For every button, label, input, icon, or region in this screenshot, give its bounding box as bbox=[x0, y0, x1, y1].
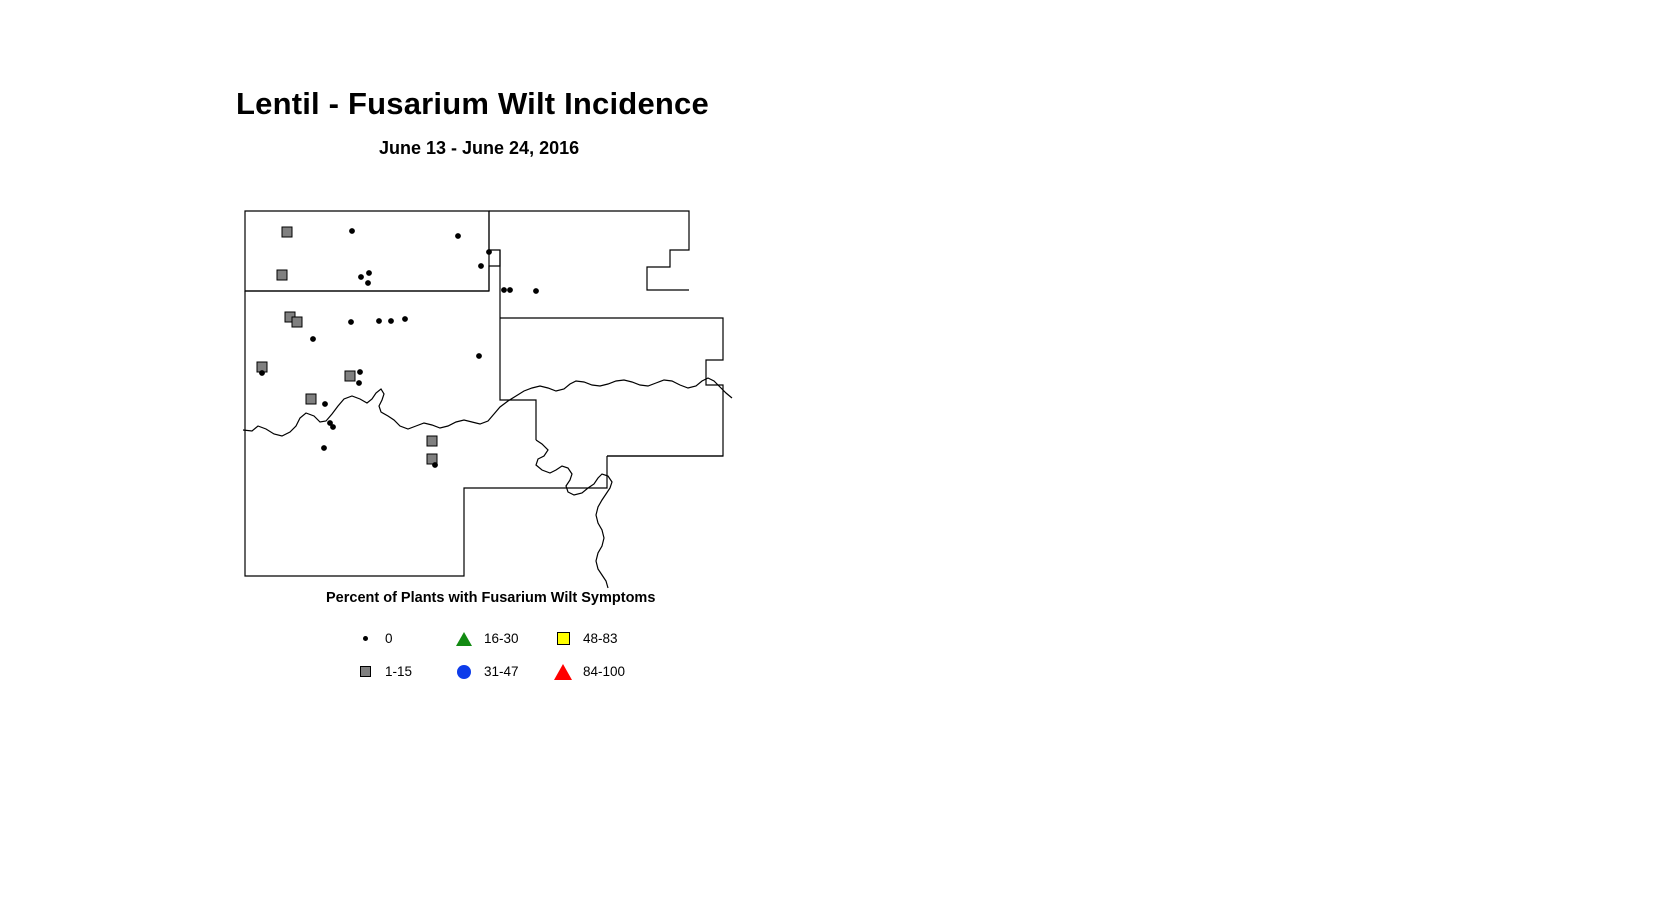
map-marker-0 bbox=[365, 280, 371, 286]
map-marker-0 bbox=[432, 462, 438, 468]
legend-label-31-47: 31-47 bbox=[484, 664, 519, 679]
map-marker-0 bbox=[348, 319, 354, 325]
map-marker-1-15 bbox=[345, 371, 355, 381]
map-marker-0 bbox=[455, 233, 461, 239]
legend-item-48-83[interactable]: 48-83 bbox=[552, 631, 651, 647]
legend-label-0: 0 bbox=[385, 631, 393, 646]
legend-item-84-100[interactable]: 84-100 bbox=[552, 664, 651, 680]
map-marker-0 bbox=[533, 288, 539, 294]
map-marker-0 bbox=[322, 401, 328, 407]
map-svg bbox=[236, 200, 736, 590]
map-marker-0 bbox=[259, 370, 265, 376]
yellow-square-icon bbox=[552, 631, 574, 647]
map-marker-0 bbox=[486, 249, 492, 255]
boundary-west-central bbox=[245, 291, 489, 398]
figure-root: Lentil - Fusarium Wilt Incidence June 13… bbox=[0, 0, 1673, 900]
map-marker-1-15 bbox=[292, 317, 302, 327]
boundary-southeast-river bbox=[536, 440, 612, 588]
legend-title: Percent of Plants with Fusarium Wilt Sym… bbox=[326, 590, 856, 606]
green-triangle-icon bbox=[453, 631, 475, 647]
map-marker-0 bbox=[376, 318, 382, 324]
map-marker-0 bbox=[321, 445, 327, 451]
map-marker-0 bbox=[366, 270, 372, 276]
map-legend: Percent of Plants with Fusarium Wilt Sym… bbox=[236, 590, 856, 688]
map-marker-0 bbox=[476, 353, 482, 359]
data-point-markers bbox=[257, 227, 539, 468]
red-triangle-icon bbox=[552, 664, 574, 680]
map-marker-1-15 bbox=[282, 227, 292, 237]
map-marker-0 bbox=[357, 369, 363, 375]
blue-circle-icon bbox=[453, 664, 475, 680]
map-marker-0 bbox=[388, 318, 394, 324]
boundary-northeast bbox=[489, 211, 689, 290]
legend-item-16-30[interactable]: 16-30 bbox=[453, 631, 552, 647]
legend-item-31-47[interactable]: 31-47 bbox=[453, 664, 552, 680]
legend-row: 1-15 31-47 84-100 bbox=[354, 655, 856, 688]
black-dot-icon bbox=[354, 631, 376, 647]
gray-square-icon bbox=[354, 664, 376, 680]
date-range-subtitle: June 13 - June 24, 2016 bbox=[379, 138, 1236, 159]
legend-item-0[interactable]: 0 bbox=[354, 631, 453, 647]
map-marker-0 bbox=[478, 263, 484, 269]
legend-row: 0 16-30 48-83 bbox=[354, 622, 856, 655]
boundary-river bbox=[243, 378, 732, 436]
map-marker-0 bbox=[507, 287, 513, 293]
map-marker-0 bbox=[330, 424, 336, 430]
map-marker-0 bbox=[356, 380, 362, 386]
boundary-interior-vertical bbox=[500, 388, 536, 440]
map-marker-0 bbox=[402, 316, 408, 322]
map-marker-0 bbox=[310, 336, 316, 342]
map-marker-1-15 bbox=[306, 394, 316, 404]
legend-label-48-83: 48-83 bbox=[583, 631, 618, 646]
legend-label-16-30: 16-30 bbox=[484, 631, 519, 646]
map-marker-1-15 bbox=[427, 436, 437, 446]
legend-rows: 0 16-30 48-83 bbox=[354, 622, 856, 688]
legend-item-1-15[interactable]: 1-15 bbox=[354, 664, 453, 680]
legend-label-84-100: 84-100 bbox=[583, 664, 625, 679]
map-marker-0 bbox=[349, 228, 355, 234]
map-marker-0 bbox=[501, 287, 507, 293]
boundary-southwest bbox=[245, 398, 607, 576]
title-block: Lentil - Fusarium Wilt Incidence June 13… bbox=[236, 86, 1236, 159]
map-canvas bbox=[236, 200, 736, 590]
map-marker-0 bbox=[358, 274, 364, 280]
legend-label-1-15: 1-15 bbox=[385, 664, 412, 679]
map-marker-1-15 bbox=[277, 270, 287, 280]
page-title: Lentil - Fusarium Wilt Incidence bbox=[236, 86, 1236, 122]
